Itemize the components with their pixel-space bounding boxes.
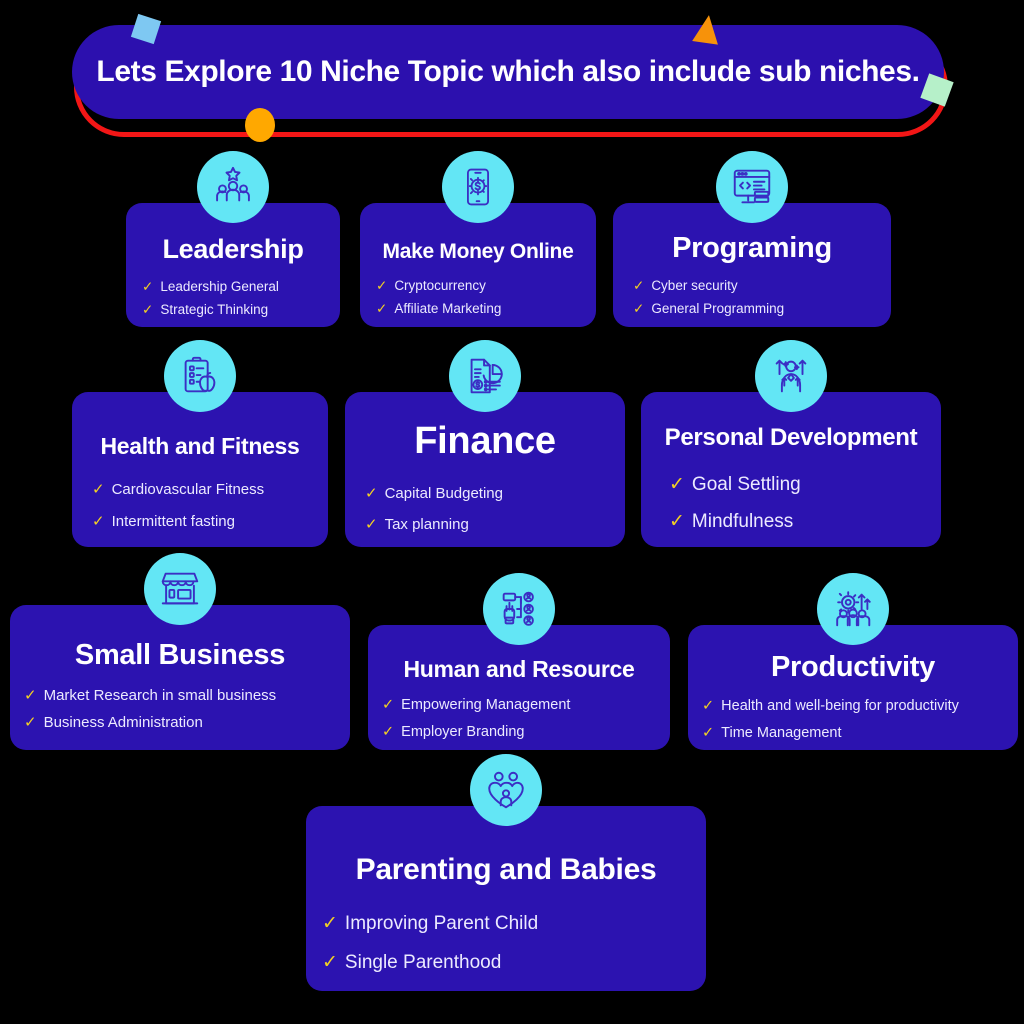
list-item: ✓Market Research in small business: [24, 682, 350, 709]
card-make-money-online[interactable]: Make Money Online ✓Cryptocurrency ✓Affil…: [360, 203, 596, 327]
card-finance[interactable]: Finance ✓Capital Budgeting ✓Tax planning: [345, 392, 625, 547]
card-title: Finance: [345, 422, 625, 462]
bullet-label: Single Parenthood: [345, 943, 501, 982]
check-icon: ✓: [92, 474, 105, 506]
card-bullets: ✓Capital Budgeting ✓Tax planning: [345, 478, 625, 540]
list-item: ✓Tax planning: [365, 509, 625, 540]
check-icon: ✓: [322, 943, 338, 982]
check-icon: ✓: [669, 503, 685, 540]
check-icon: ✓: [382, 719, 394, 746]
check-icon: ✓: [92, 506, 105, 538]
team-gear-arrows-icon: [817, 573, 889, 645]
list-item: ✓Cardiovascular Fitness: [92, 474, 328, 506]
bullet-label: Leadership General: [160, 275, 279, 298]
hand-org-chart-people-icon: [483, 573, 555, 645]
bullet-label: Improving Parent Child: [345, 904, 538, 943]
bullet-label: Mindfulness: [692, 503, 793, 540]
check-icon: ✓: [702, 720, 714, 747]
bullet-label: Goal Settling: [692, 466, 801, 503]
bullet-label: Employer Branding: [401, 719, 524, 746]
list-item: ✓Strategic Thinking: [142, 298, 340, 321]
check-icon: ✓: [24, 709, 37, 736]
report-piechart-money-icon: [449, 340, 521, 412]
person-growth-arrows-icon: [755, 340, 827, 412]
bullet-label: Cryptocurrency: [394, 274, 486, 297]
card-health-and-fitness[interactable]: Health and Fitness ✓Cardiovascular Fitne…: [72, 392, 328, 547]
card-bullets: ✓Leadership General ✓Strategic Thinking: [126, 275, 340, 321]
check-icon: ✓: [376, 274, 387, 297]
check-icon: ✓: [382, 692, 394, 719]
card-human-and-resource[interactable]: Human and Resource ✓Empowering Managemen…: [368, 625, 670, 750]
header-banner: Lets Explore 10 Niche Topic which also i…: [72, 25, 952, 127]
card-title: Human and Resource: [368, 657, 670, 681]
bullet-label: General Programming: [651, 297, 784, 320]
list-item: ✓Cryptocurrency: [376, 274, 596, 297]
check-icon: ✓: [365, 509, 378, 540]
orange-dot-decoration: [245, 108, 275, 142]
storefront-icon: [144, 553, 216, 625]
card-title: Programing: [613, 233, 891, 263]
card-parenting-and-babies[interactable]: Parenting and Babies ✓Improving Parent C…: [306, 806, 706, 991]
card-title: Health and Fitness: [72, 434, 328, 458]
card-bullets: ✓Goal Settling ✓Mindfulness: [641, 466, 941, 540]
check-icon: ✓: [142, 298, 153, 321]
clipboard-apple-icon: [164, 340, 236, 412]
orange-triangle-decoration: [692, 13, 722, 44]
bullet-label: Strategic Thinking: [160, 298, 268, 321]
list-item: ✓Employer Branding: [382, 719, 670, 746]
list-item: ✓Leadership General: [142, 275, 340, 298]
card-bullets: ✓Empowering Management ✓Employer Brandin…: [368, 692, 670, 746]
list-item: ✓Improving Parent Child: [322, 904, 706, 943]
card-leadership[interactable]: Leadership ✓Leadership General ✓Strategi…: [126, 203, 340, 327]
check-icon: ✓: [702, 693, 714, 720]
list-item: ✓Health and well-being for productivity: [702, 693, 1018, 720]
card-programing[interactable]: Programing ✓Cyber security ✓General Prog…: [613, 203, 891, 327]
list-item: ✓Goal Settling: [669, 466, 941, 503]
bullet-label: Cyber security: [651, 274, 737, 297]
list-item: ✓Intermittent fasting: [92, 506, 328, 538]
card-personal-development[interactable]: Personal Development ✓Goal Settling ✓Min…: [641, 392, 941, 547]
check-icon: ✓: [24, 682, 37, 709]
card-bullets: ✓Improving Parent Child ✓Single Parentho…: [306, 904, 706, 982]
card-productivity[interactable]: Productivity ✓Health and well-being for …: [688, 625, 1018, 750]
card-bullets: ✓Market Research in small business ✓Busi…: [10, 682, 350, 736]
bullet-label: Capital Budgeting: [385, 478, 503, 509]
bullet-label: Business Administration: [44, 709, 203, 736]
check-icon: ✓: [633, 297, 644, 320]
infographic-canvas: Lets Explore 10 Niche Topic which also i…: [0, 0, 1024, 1024]
bullet-label: Tax planning: [385, 509, 469, 540]
card-title: Productivity: [688, 652, 1018, 682]
card-bullets: ✓Cardiovascular Fitness ✓Intermittent fa…: [72, 474, 328, 538]
list-item: ✓Mindfulness: [669, 503, 941, 540]
card-small-business[interactable]: Small Business ✓Market Research in small…: [10, 605, 350, 750]
bullet-label: Affiliate Marketing: [394, 297, 501, 320]
leadership-team-star-icon: [197, 151, 269, 223]
list-item: ✓Cyber security: [633, 274, 891, 297]
bullet-label: Empowering Management: [401, 692, 570, 719]
check-icon: ✓: [633, 274, 644, 297]
list-item: ✓Affiliate Marketing: [376, 297, 596, 320]
list-item: ✓Business Administration: [24, 709, 350, 736]
list-item: ✓Time Management: [702, 720, 1018, 747]
code-window-server-icon: [716, 151, 788, 223]
check-icon: ✓: [376, 297, 387, 320]
card-title: Make Money Online: [360, 241, 596, 263]
mobile-money-gear-icon: [442, 151, 514, 223]
card-bullets: ✓Cryptocurrency ✓Affiliate Marketing: [360, 274, 596, 320]
card-title: Parenting and Babies: [306, 854, 706, 886]
check-icon: ✓: [142, 275, 153, 298]
family-heart-icon: [470, 754, 542, 826]
bullet-label: Cardiovascular Fitness: [112, 474, 265, 506]
bullet-label: Market Research in small business: [44, 682, 277, 709]
header-bar: Lets Explore 10 Niche Topic which also i…: [72, 25, 944, 119]
check-icon: ✓: [322, 904, 338, 943]
card-title: Small Business: [10, 640, 350, 670]
list-item: ✓Single Parenthood: [322, 943, 706, 982]
list-item: ✓General Programming: [633, 297, 891, 320]
check-icon: ✓: [365, 478, 378, 509]
card-title: Personal Development: [641, 425, 941, 450]
bullet-label: Health and well-being for productivity: [721, 693, 959, 720]
page-title: Lets Explore 10 Niche Topic which also i…: [96, 55, 919, 89]
card-bullets: ✓Cyber security ✓General Programming: [613, 274, 891, 320]
bullet-label: Intermittent fasting: [112, 506, 235, 538]
list-item: ✓Capital Budgeting: [365, 478, 625, 509]
card-bullets: ✓Health and well-being for productivity …: [688, 693, 1018, 747]
check-icon: ✓: [669, 466, 685, 503]
bullet-label: Time Management: [721, 720, 841, 747]
list-item: ✓Empowering Management: [382, 692, 670, 719]
card-title: Leadership: [126, 235, 340, 263]
